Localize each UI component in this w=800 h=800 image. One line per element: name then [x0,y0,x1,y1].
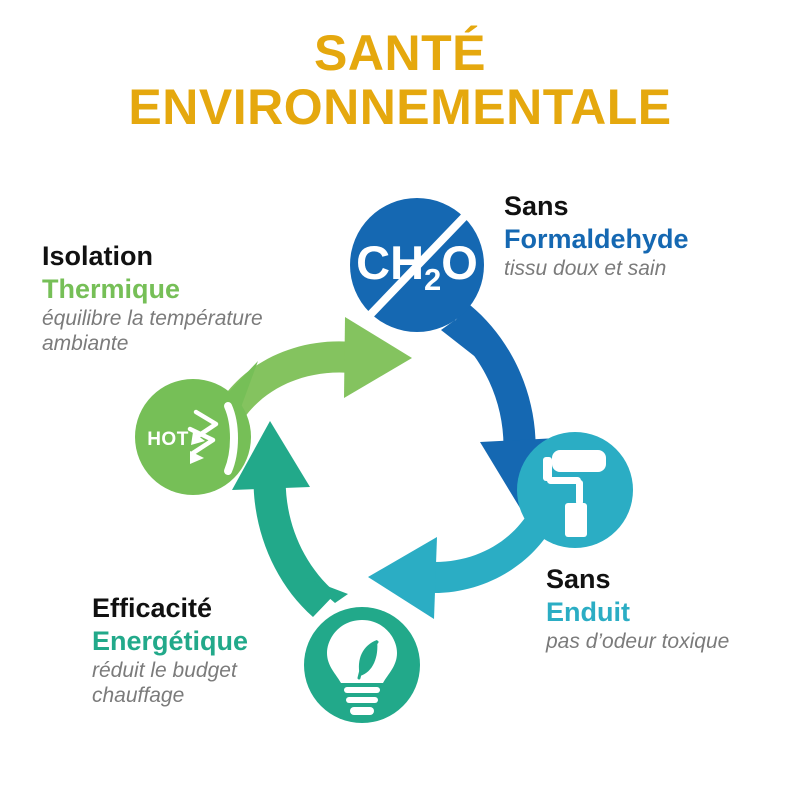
callout-isolation-title: Isolation [42,240,342,273]
callout-enduit: Sans Enduit pas d’odeur toxique [546,563,800,654]
callout-formaldehyde: Sans Formaldehyde tissu doux et sain [504,190,794,281]
callout-efficacite-description: réduit le budget chauffage [92,658,362,709]
callout-enduit-subtitle: Enduit [546,596,800,629]
callout-efficacite-title: Efficacité [92,592,362,625]
callout-efficacite: Efficacité Energétique réduit le budget … [92,592,362,709]
callout-isolation-description: équilibre la température ambiante [42,306,342,357]
callout-isolation-subtitle: Thermique [42,273,342,306]
arrow-cyan-enduit-to-energetique [368,506,554,619]
infographic-page: SANTÉ ENVIRONNEMENTALE [0,0,800,800]
callout-efficacite-subtitle: Energétique [92,625,362,658]
formaldehyde-formula-text: CH2O [356,236,478,297]
callout-enduit-description: pas d’odeur toxique [546,629,800,655]
callout-formaldehyde-title: Sans [504,190,794,223]
node-enduit[interactable] [517,432,633,548]
callout-formaldehyde-description: tissu doux et sain [504,256,794,282]
node-isolation[interactable]: HOT [135,361,258,495]
callout-isolation: Isolation Thermique équilibre la tempéra… [42,240,342,357]
hot-label-text: HOT [147,429,189,450]
callout-enduit-title: Sans [546,563,800,596]
callout-formaldehyde-subtitle: Formaldehyde [504,223,794,256]
